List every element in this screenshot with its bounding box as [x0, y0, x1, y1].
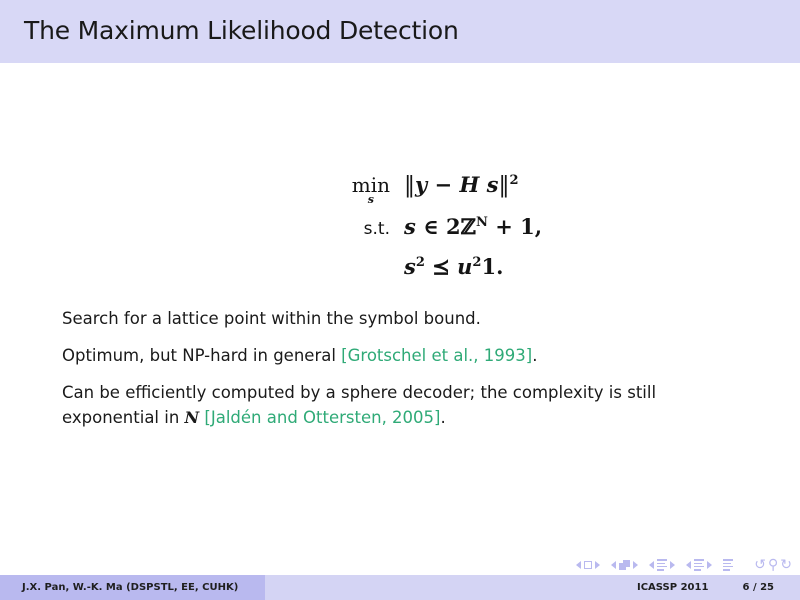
table-of-contents-icon[interactable]: [723, 559, 733, 571]
footer-authors: J.X. Pan, W.-K. Ma (DSPSTL, EE, CUHK): [0, 575, 265, 600]
next-frame-icon[interactable]: [633, 561, 638, 569]
objective-operator-cell: min s: [312, 175, 404, 196]
body-paragraph-3: Can be efficiently computed by a sphere …: [62, 380, 752, 430]
constraint-1-cell: s ∈ 2ℤN + 1,: [404, 214, 542, 239]
frame-stack-icon[interactable]: [619, 560, 630, 570]
objective-row: min s ‖y − H s‖2: [312, 172, 800, 198]
slide-footer: J.X. Pan, W.-K. Ma (DSPSTL, EE, CUHK) IC…: [0, 575, 800, 600]
constraint-label-cell: s.t.: [312, 219, 404, 239]
prev-subsection-icon[interactable]: [649, 561, 654, 569]
next-section-icon[interactable]: [707, 561, 712, 569]
paragraph-1-text: Search for a lattice point within the sy…: [62, 309, 481, 328]
next-subsection-icon[interactable]: [670, 561, 675, 569]
toc-navigation-group: [723, 559, 733, 571]
section-navigation-group: [686, 559, 712, 571]
beamer-navigation-bar: ↺ ⚲ ↻: [0, 558, 800, 575]
c1-comma: ,: [535, 214, 542, 239]
paragraph-3-period: .: [441, 408, 446, 427]
search-icon[interactable]: ⚲: [768, 558, 778, 572]
paragraph-3-math-symbol: N: [185, 408, 200, 427]
footer-conference: ICASSP 2011: [615, 582, 708, 593]
norm-open-bar: ‖: [404, 173, 415, 198]
constraint-row-1: s.t. s ∈ 2ℤN + 1,: [312, 214, 800, 239]
objective-inner: y − H s: [415, 172, 498, 197]
subject-to-label: s.t.: [364, 219, 390, 239]
citation-jalden-ottersten[interactable]: [Jaldén and Ottersten, 2005]: [204, 408, 440, 427]
slide: The Maximum Likelihood Detection min s ‖…: [0, 0, 800, 600]
prev-slide-icon[interactable]: [576, 561, 581, 569]
c1-coefficient: 2: [446, 214, 461, 239]
prev-frame-icon[interactable]: [611, 561, 616, 569]
constraint-1-expression: s ∈ 2ℤN + 1,: [404, 214, 542, 239]
c2-variable-exponent: 2: [416, 255, 425, 270]
c1-relation: ∈: [423, 214, 439, 239]
page-title: The Maximum Likelihood Detection: [24, 16, 459, 45]
footer-spacer: [265, 575, 615, 600]
c1-offset: 1: [520, 214, 535, 239]
prev-section-icon[interactable]: [686, 561, 691, 569]
paragraph-2-period: .: [532, 346, 537, 365]
footer-page-number: 6 / 25: [743, 582, 775, 593]
c1-set-symbol: ℤ: [461, 214, 476, 239]
c2-vector-one: 1: [481, 254, 496, 279]
paragraph-2-text: Optimum, but NP-hard in general: [62, 346, 341, 365]
body-paragraph-1: Search for a lattice point within the sy…: [62, 306, 752, 331]
min-operator-subscript: s: [352, 194, 390, 205]
c2-bound: u: [457, 254, 472, 279]
min-operator: min s: [352, 175, 390, 195]
back-icon[interactable]: ↺: [754, 558, 766, 572]
objective-expression: ‖y − H s‖2: [404, 172, 519, 197]
frame-navigation-group: [611, 560, 638, 570]
c1-plus: +: [495, 214, 513, 239]
slide-navigation-group: [576, 561, 600, 569]
c2-relation: ⪯: [432, 254, 450, 279]
footer-meta: ICASSP 2011 6 / 25: [615, 575, 800, 600]
history-navigation-group: ↺ ⚲ ↻: [754, 558, 792, 572]
navigation-symbols: ↺ ⚲ ↻: [576, 558, 792, 572]
subsection-icon[interactable]: [657, 559, 667, 571]
c1-variable: s: [404, 214, 416, 239]
c2-period: .: [496, 254, 503, 279]
optimization-problem: min s ‖y − H s‖2 s.t. s ∈ 2ℤN + 1,: [0, 172, 800, 279]
citation-grotschel[interactable]: [Grotschel et al., 1993]: [341, 346, 532, 365]
slide-title-bar: The Maximum Likelihood Detection: [0, 0, 800, 63]
section-icon[interactable]: [694, 559, 704, 571]
constraint-row-2: s2 ⪯ u21.: [312, 254, 800, 279]
forward-icon[interactable]: ↻: [780, 558, 792, 572]
objective-expression-cell: ‖y − H s‖2: [404, 172, 519, 198]
norm-close-bar: ‖: [498, 173, 509, 198]
c2-variable: s: [404, 254, 416, 279]
subsection-navigation-group: [649, 559, 675, 571]
c1-set-exponent: N: [476, 215, 488, 230]
next-slide-icon[interactable]: [595, 561, 600, 569]
objective-exponent: 2: [509, 173, 518, 188]
body-paragraph-2: Optimum, but NP-hard in general [Grotsch…: [62, 343, 752, 368]
constraint-2-cell: s2 ⪯ u21.: [404, 254, 503, 279]
constraint-2-expression: s2 ⪯ u21.: [404, 254, 503, 279]
slide-body: Search for a lattice point within the sy…: [62, 306, 752, 430]
first-slide-icon[interactable]: [584, 561, 592, 569]
